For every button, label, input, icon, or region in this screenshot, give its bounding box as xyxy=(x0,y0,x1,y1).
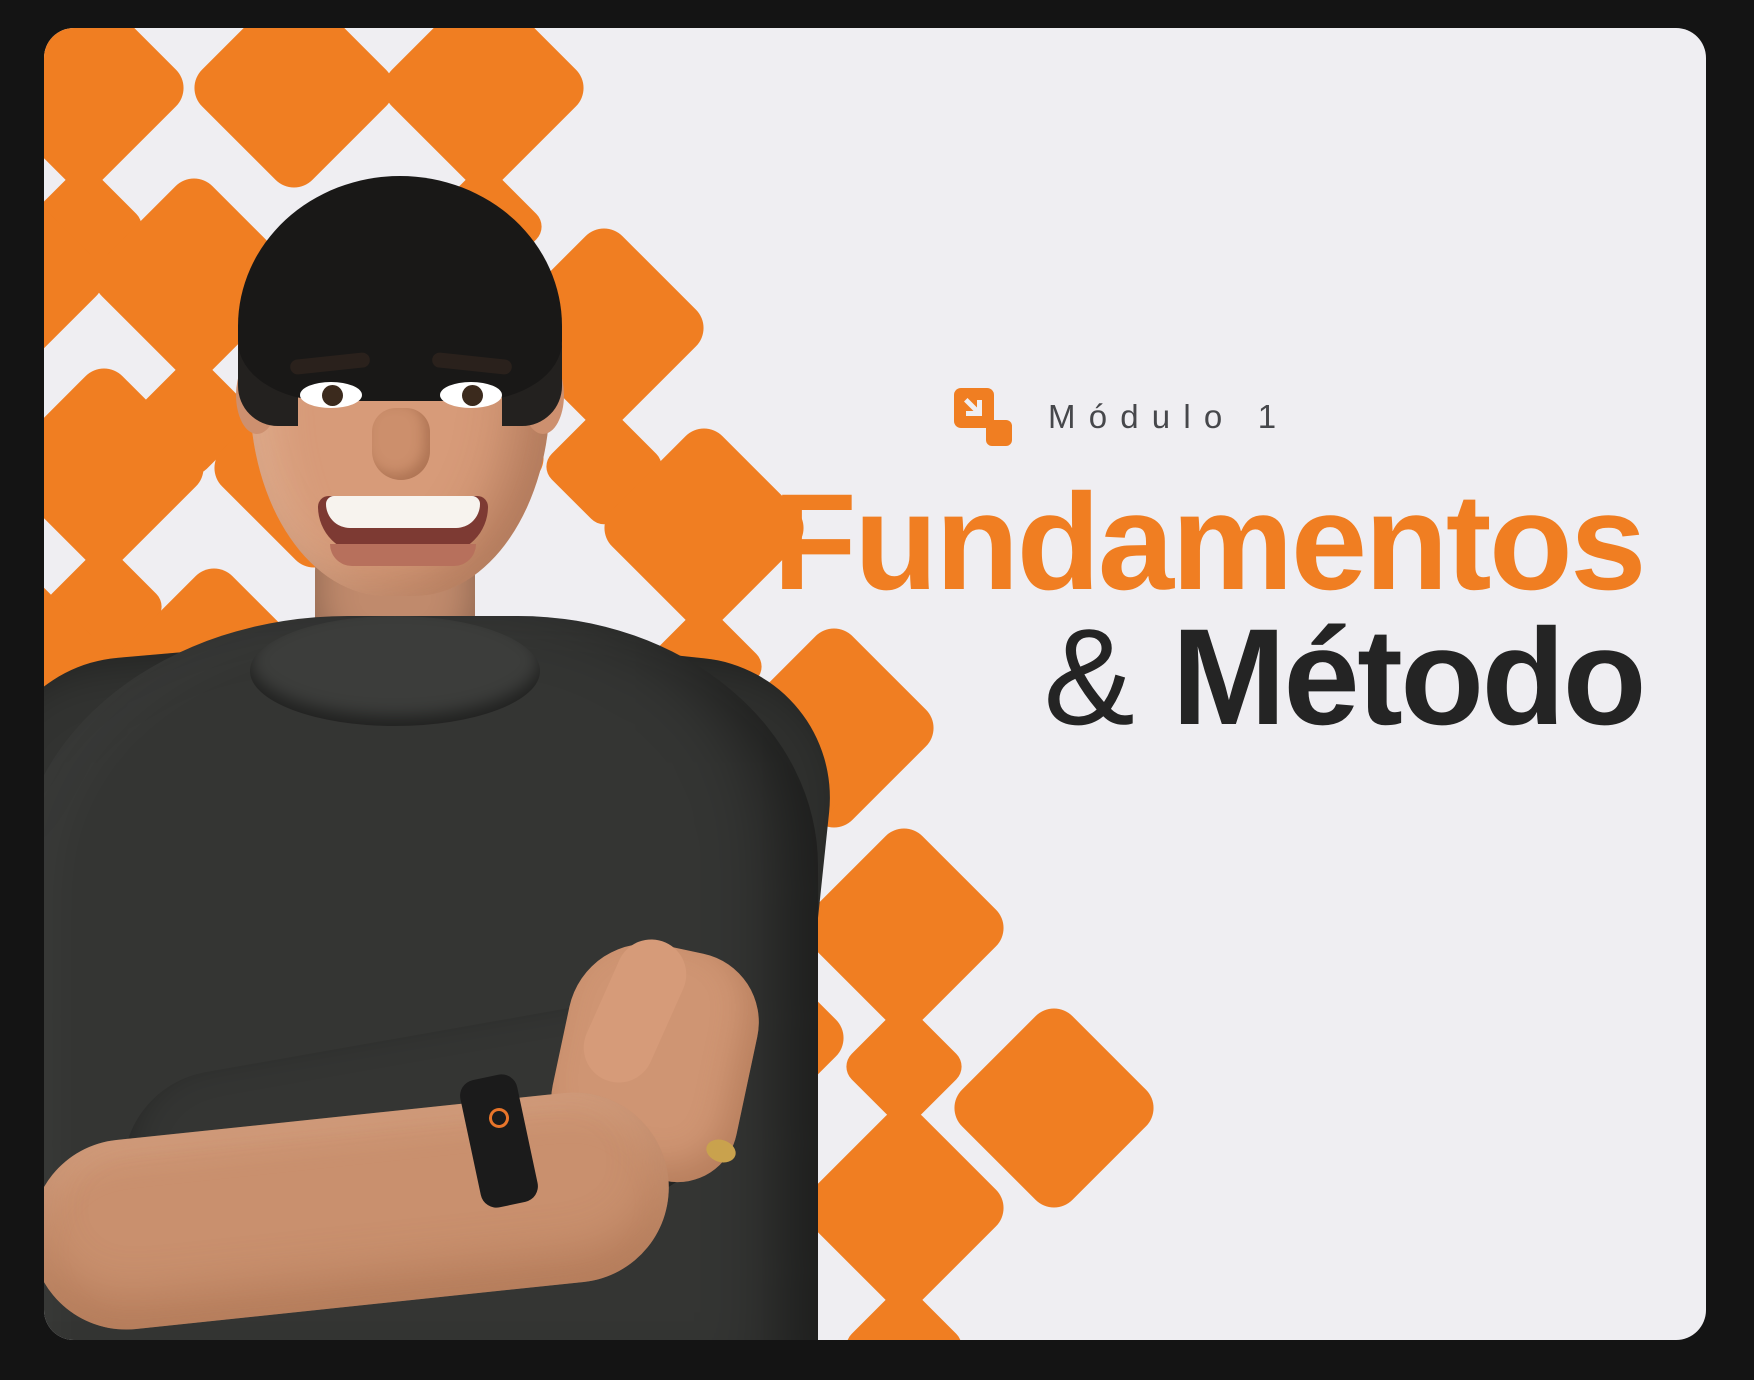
pupil-right xyxy=(462,385,483,406)
headline-line-2: & Método xyxy=(744,607,1644,748)
presenter-photo xyxy=(44,56,860,1340)
title-block: Módulo 1 Fundamentos & Método xyxy=(744,388,1644,748)
hair xyxy=(238,176,562,401)
headline: Fundamentos & Método xyxy=(744,472,1644,748)
brand-arrow-mark-icon xyxy=(954,388,1012,446)
module-eyebrow: Módulo 1 xyxy=(954,388,1644,446)
slide-card: Módulo 1 Fundamentos & Método xyxy=(44,28,1706,1340)
headline-line-1: Fundamentos xyxy=(744,472,1644,613)
headline-line-2-text: Método xyxy=(1172,601,1644,754)
headline-ampersand: & xyxy=(1043,601,1136,754)
shirt-collar xyxy=(250,616,540,726)
lower-lip xyxy=(330,544,476,566)
pupil-left xyxy=(322,385,343,406)
slide-canvas: Módulo 1 Fundamentos & Método xyxy=(0,0,1754,1380)
nose xyxy=(372,408,430,480)
module-label: Módulo 1 xyxy=(1048,398,1289,436)
teeth xyxy=(326,496,480,528)
